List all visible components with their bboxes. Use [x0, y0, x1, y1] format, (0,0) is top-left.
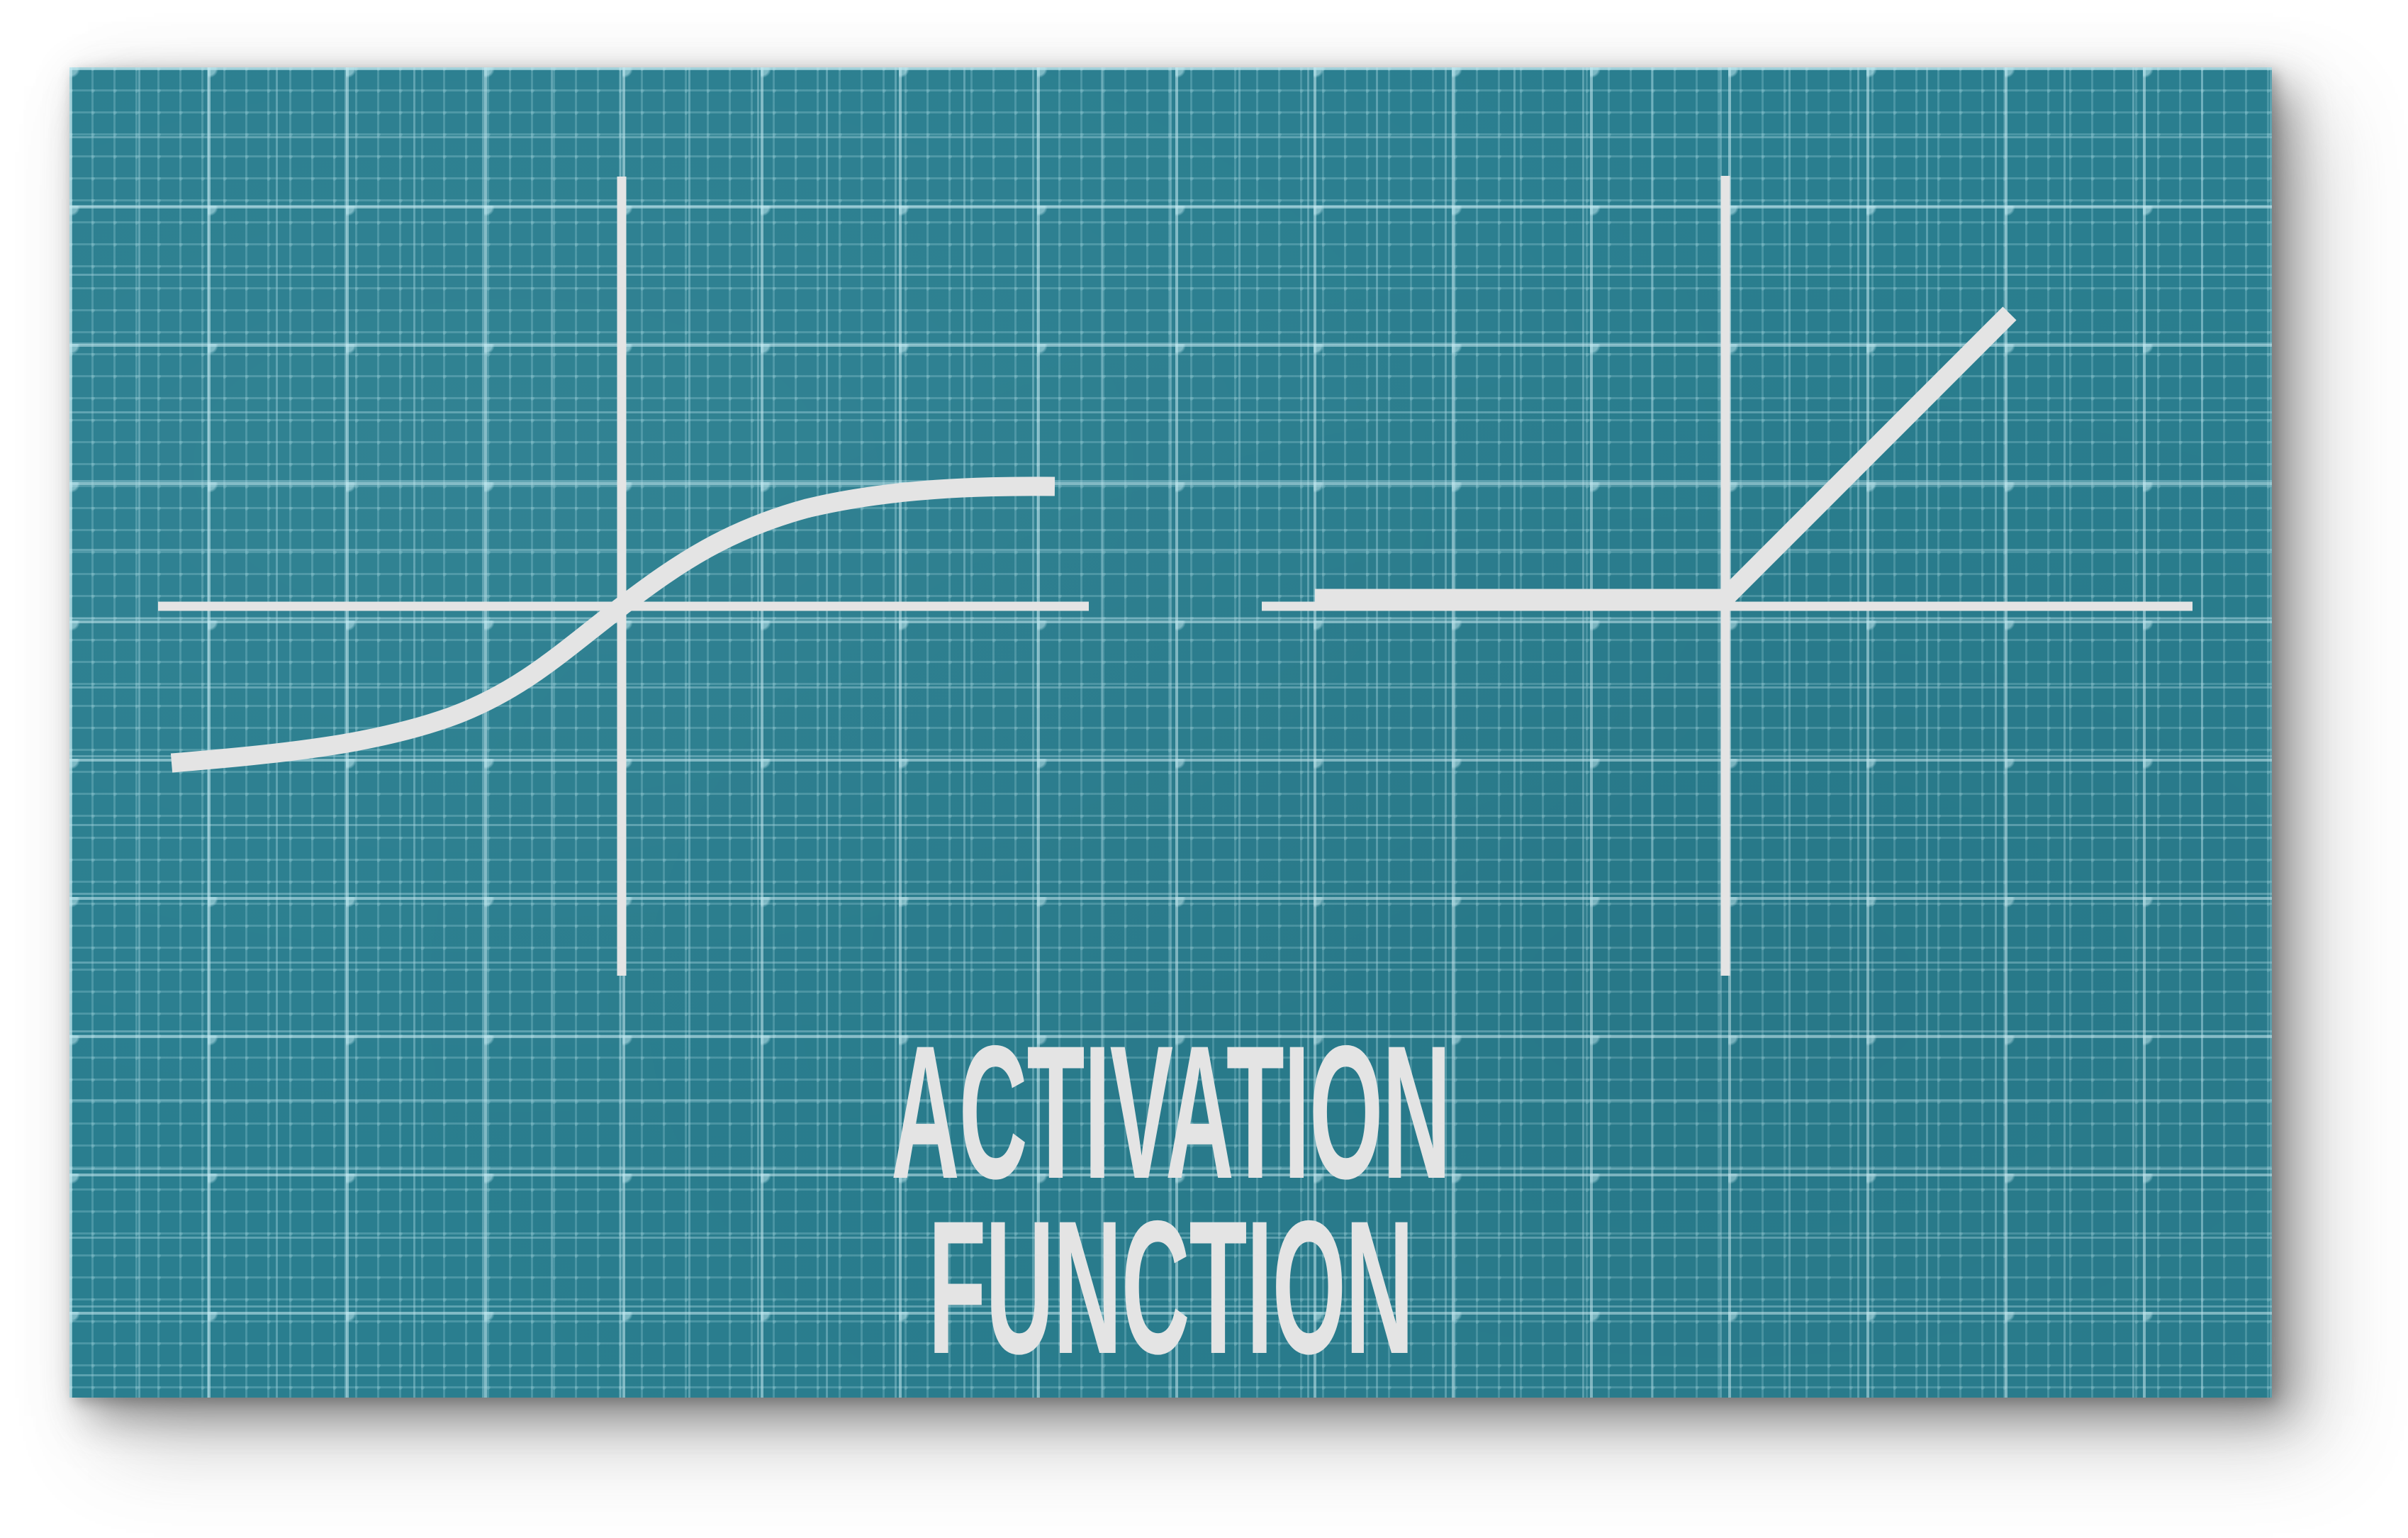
relu-ramp-segment-icon — [1721, 313, 2010, 602]
title-line-1: ACTIVATION — [620, 1025, 1722, 1200]
poster-title: ACTIVATION FUNCTION — [69, 1025, 2272, 1374]
poster-canvas: ACTIVATION FUNCTION — [0, 0, 2408, 1538]
title-line-2: FUNCTION — [620, 1200, 1722, 1375]
blueprint-card: ACTIVATION FUNCTION — [69, 67, 2272, 1398]
